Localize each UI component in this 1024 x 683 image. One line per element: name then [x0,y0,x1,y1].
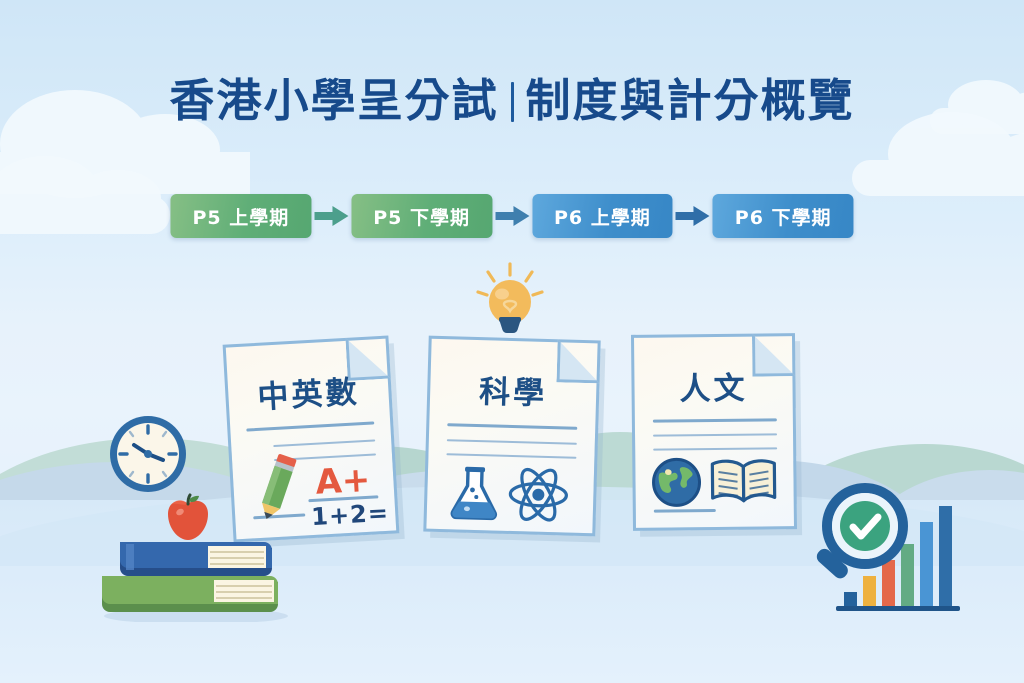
timeline-step-p6-term2[interactable]: P6 下學期 [713,194,854,238]
page-title-right: 制度與計分概覽 [526,74,855,127]
pencil-icon [248,447,308,528]
atom-icon [507,465,571,525]
analytics-illustration [806,482,976,614]
subject-card-core-heading: 中英數 [227,365,389,419]
timeline-step-p5-term2[interactable]: P5 下學期 [351,194,492,238]
text-rule [653,418,777,422]
timeline-step-p5-term1[interactable]: P5 上學期 [170,194,311,238]
infographic-canvas: 香港小學呈分試制度與計分概覽 P5 上學期 P5 下學期 P6 上學期 P6 下… [0,0,1024,683]
open-book-icon [707,456,780,509]
check-badge [840,501,890,551]
text-rule [446,453,576,459]
cloud-icon [852,160,1024,196]
subject-card-humanities[interactable]: 人文 [631,333,797,531]
arrow-right-icon [673,205,713,227]
clock-icon [106,412,190,496]
subject-card-science-heading: 科學 [430,365,597,415]
subject-card-core[interactable]: 中英數 A+ 1+2= [223,336,400,543]
globe-icon [651,457,702,508]
arrow-right-icon [311,205,351,227]
text-rule [653,433,777,436]
text-rule [653,447,777,450]
timeline-step-p6-term1[interactable]: P6 上學期 [532,194,673,238]
text-rule [654,509,716,513]
text-rule [447,423,577,430]
page-title-left: 香港小學呈分試 [169,74,498,127]
title-divider [511,82,514,122]
subject-card-science[interactable]: 科學 [423,336,600,537]
cloud-icon [0,196,170,234]
equation-text: 1+2= [311,499,390,531]
flask-icon [445,463,505,523]
text-rule [246,421,374,431]
arrow-right-icon [492,205,532,227]
lightbulb-icon [474,262,546,338]
text-rule [273,439,375,447]
book-stack [96,520,296,622]
text-rule [447,439,577,445]
page-title: 香港小學呈分試制度與計分概覽 [0,64,1024,129]
assessment-timeline: P5 上學期 P5 下學期 P6 上學期 P6 下學期 [170,194,853,238]
subject-card-humanities-heading: 人文 [634,362,792,409]
